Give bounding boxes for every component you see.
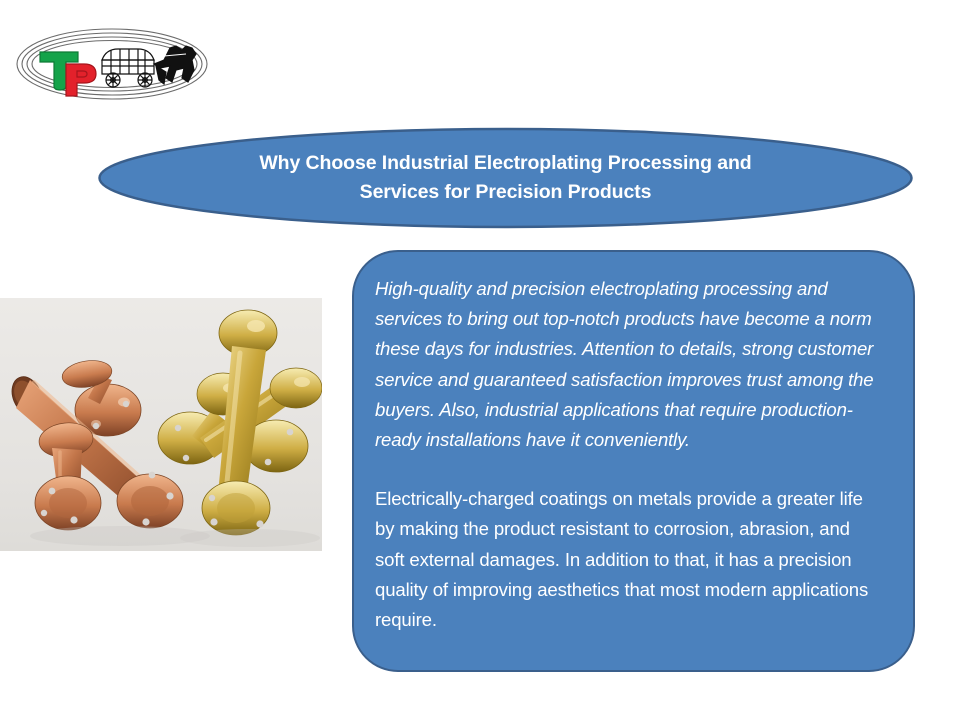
logo-letter-p — [66, 64, 96, 96]
logo-wagon-emblem — [102, 46, 196, 87]
body-paragraph-2: Electrically-charged coatings on metals … — [375, 484, 879, 635]
tp-wagon-logo — [14, 26, 210, 102]
body-paragraph-1: High-quality and precision electroplatin… — [375, 274, 879, 455]
title-line-2: Services for Precision Products — [360, 178, 652, 207]
page-title: Why Choose Industrial Electroplating Pro… — [97, 127, 914, 229]
logo-svg — [14, 26, 210, 102]
product-photo-image — [0, 298, 322, 551]
product-photo — [0, 298, 322, 551]
body-text-panel: High-quality and precision electroplatin… — [352, 250, 915, 672]
title-line-1: Why Choose Industrial Electroplating Pro… — [259, 149, 751, 178]
slide-canvas: Why Choose Industrial Electroplating Pro… — [0, 0, 960, 720]
title-banner: Why Choose Industrial Electroplating Pro… — [97, 127, 914, 229]
